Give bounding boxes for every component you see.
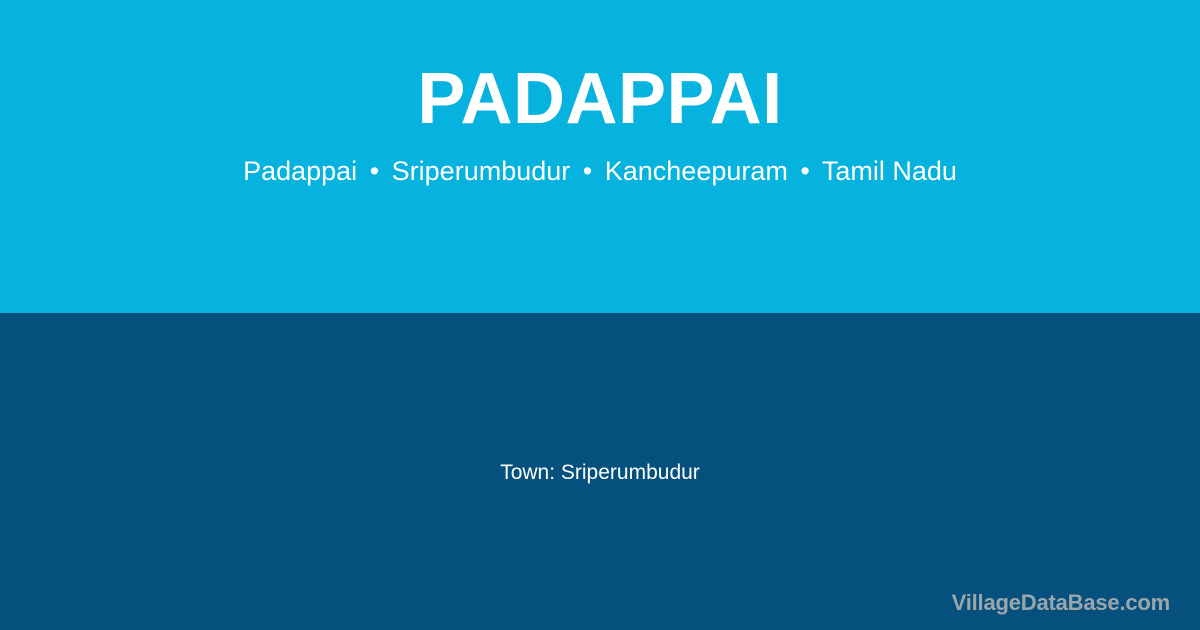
site-watermark: VillageDataBase.com [952,590,1170,616]
breadcrumb-state: Tamil Nadu [822,156,957,186]
village-info-card: PADAPPAI Padappai • Sriperumbudur • Kanc… [0,0,1200,630]
content-band: Town: Sriperumbudur VillageDataBase.com [0,313,1200,630]
breadcrumb-village: Padappai [243,156,357,186]
town-info: Town: Sriperumbudur [500,459,700,486]
header-band: PADAPPAI Padappai • Sriperumbudur • Kanc… [0,0,1200,313]
breadcrumb-block: Sriperumbudur [392,156,571,186]
breadcrumb-separator: • [795,155,814,187]
page-title: PADAPPAI [417,62,782,138]
breadcrumb-separator: • [578,155,597,187]
breadcrumb: Padappai • Sriperumbudur • Kancheepuram … [243,155,957,187]
breadcrumb-district: Kancheepuram [605,156,788,186]
breadcrumb-separator: • [365,155,384,187]
